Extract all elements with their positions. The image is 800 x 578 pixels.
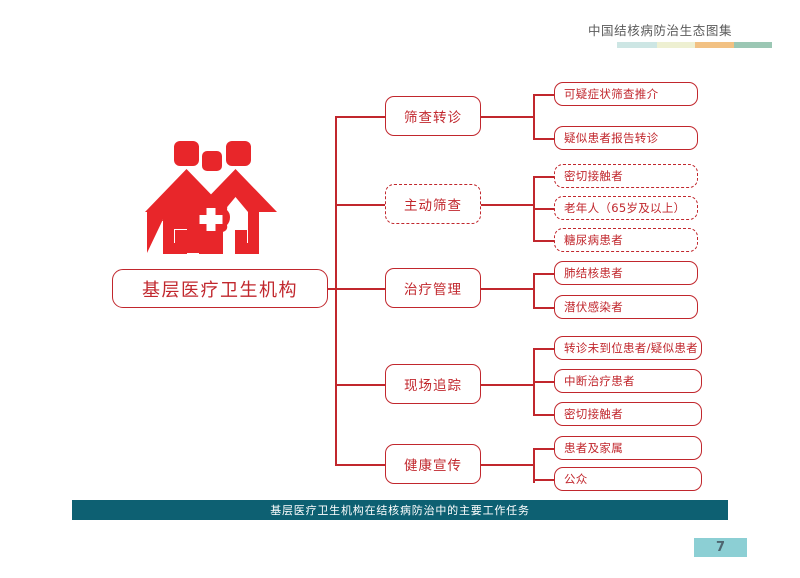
connector-branch-5-spine	[533, 448, 535, 483]
node-leaf-public[interactable]: 公众	[554, 467, 702, 491]
connector-branch-2-child-2	[533, 208, 555, 210]
node-branch-label: 主动筛查	[404, 194, 462, 214]
connector-branch-4-child-3	[533, 414, 555, 416]
connector-branch-3-spine	[533, 273, 535, 309]
node-branch-label: 筛查转诊	[404, 106, 462, 126]
connector-branch-5-stem	[481, 464, 535, 466]
connector-branch-1-child-1	[533, 94, 555, 96]
node-leaf-suspected-case-report-referral[interactable]: 疑似患者报告转诊	[554, 126, 698, 150]
figure-caption-text: 基层医疗卫生机构在结核病防治中的主要工作任务	[270, 502, 530, 518]
node-leaf-close-contacts-tracking[interactable]: 密切接触者	[554, 402, 702, 426]
node-leaf-pulmonary-tb-patients[interactable]: 肺结核患者	[554, 261, 698, 285]
node-root[interactable]: 基层医疗卫生机构	[112, 269, 328, 308]
node-branch-health-promotion[interactable]: 健康宣传	[385, 444, 481, 484]
header-accent-bar	[617, 42, 772, 48]
primary-healthcare-logo	[143, 133, 279, 257]
node-leaf-label: 密切接触者	[564, 406, 623, 422]
node-branch-active-screening[interactable]: 主动筛查	[385, 184, 481, 224]
connector-trunk-vertical	[335, 116, 337, 464]
node-leaf-suspect-symptom-screening[interactable]: 可疑症状筛查推介	[554, 82, 698, 106]
node-leaf-close-contacts[interactable]: 密切接触者	[554, 164, 698, 188]
node-leaf-label: 老年人（65岁及以上）	[564, 200, 685, 216]
connector-trunk-to-branch-5	[335, 464, 385, 466]
node-branch-label: 健康宣传	[404, 454, 462, 474]
connector-trunk-to-branch-2	[335, 204, 385, 206]
node-leaf-label: 公众	[564, 471, 588, 487]
node-leaf-treatment-interrupted[interactable]: 中断治疗患者	[554, 369, 702, 393]
connector-branch-2-stem	[481, 204, 535, 206]
node-leaf-label: 潜伏感染者	[564, 299, 623, 315]
segment-orange	[695, 42, 733, 48]
connector-branch-3-child-1	[533, 273, 555, 275]
node-branch-label: 治疗管理	[404, 278, 462, 298]
node-leaf-patients-and-family[interactable]: 患者及家属	[554, 436, 702, 460]
page-number-badge: 7	[694, 538, 747, 557]
connector-branch-1-stem	[481, 116, 535, 118]
segment-green	[734, 42, 772, 48]
connector-branch-5-child-1	[533, 448, 555, 450]
node-leaf-label: 患者及家属	[564, 440, 623, 456]
connector-branch-1-spine	[533, 94, 535, 139]
connector-branch-5-child-2	[533, 479, 555, 481]
connector-branch-4-child-2	[533, 381, 555, 383]
segment-yellow-light	[657, 42, 695, 48]
node-leaf-latent-infection[interactable]: 潜伏感染者	[554, 295, 698, 319]
node-leaf-label: 中断治疗患者	[564, 373, 635, 389]
node-branch-screening-referral[interactable]: 筛查转诊	[385, 96, 481, 136]
node-branch-treatment-management[interactable]: 治疗管理	[385, 268, 481, 308]
node-leaf-diabetes-patients[interactable]: 糖尿病患者	[554, 228, 698, 252]
node-leaf-label: 可疑症状筛查推介	[564, 86, 658, 102]
node-branch-onsite-tracking[interactable]: 现场追踪	[385, 364, 481, 404]
connector-branch-3-stem	[481, 288, 535, 290]
node-leaf-referral-not-arrived[interactable]: 转诊未到位患者/疑似患者	[554, 336, 702, 360]
page-header-title: 中国结核病防治生态图集	[540, 20, 780, 39]
node-leaf-label: 疑似患者报告转诊	[564, 130, 658, 146]
connector-trunk-to-branch-1	[335, 116, 385, 118]
segment-teal-light	[617, 42, 657, 48]
node-leaf-label: 糖尿病患者	[564, 232, 623, 248]
connector-branch-2-child-1	[533, 176, 555, 178]
node-root-label: 基层医疗卫生机构	[142, 276, 298, 302]
slide-page: 中国结核病防治生态图集	[0, 0, 800, 578]
connector-branch-1-child-2	[533, 138, 555, 140]
node-leaf-elderly-65-plus[interactable]: 老年人（65岁及以上）	[554, 196, 698, 220]
node-leaf-label: 转诊未到位患者/疑似患者	[564, 340, 698, 356]
node-leaf-label: 密切接触者	[564, 168, 623, 184]
connector-trunk-to-branch-4	[335, 384, 385, 386]
figure-caption-bar: 基层医疗卫生机构在结核病防治中的主要工作任务	[72, 500, 728, 520]
connector-branch-4-stem	[481, 384, 535, 386]
connector-branch-4-child-1	[533, 348, 555, 350]
connector-branch-3-child-2	[533, 307, 555, 309]
node-leaf-label: 肺结核患者	[564, 265, 623, 281]
node-branch-label: 现场追踪	[404, 374, 462, 394]
connector-trunk-to-branch-3	[335, 288, 385, 290]
page-number-text: 7	[716, 540, 725, 555]
connector-branch-2-child-3	[533, 240, 555, 242]
